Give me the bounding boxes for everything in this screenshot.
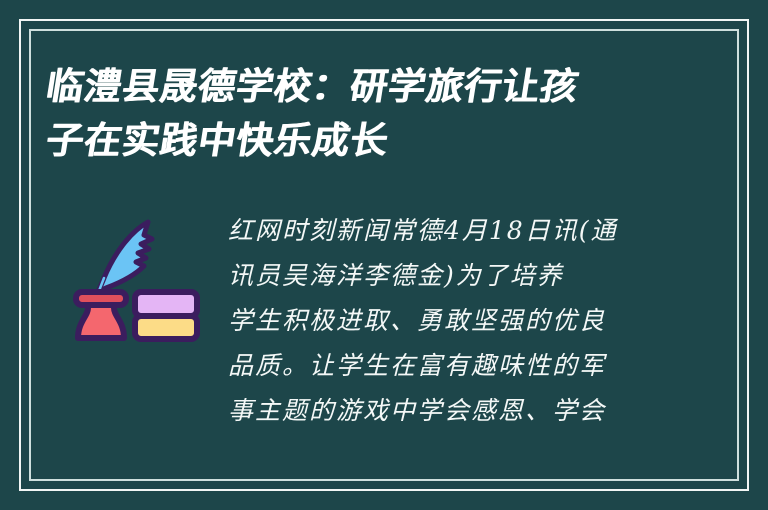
page-title: 临澧县晟德学校：研学旅行让孩 子在实践中快乐成长 (46, 60, 686, 168)
book-stack-icon (135, 292, 197, 339)
quill-feather-icon (96, 222, 152, 298)
body-line-5: 事主题的游戏中学会感恩、学会 (228, 388, 668, 433)
article-body: 红网时刻新闻常德4月18日讯(通 讯员吴海洋李德金)为了培养 学生积极进取、勇敢… (228, 208, 668, 433)
quill-inkwell-books-illustration (56, 216, 206, 346)
article-card: 临澧县晟德学校：研学旅行让孩 子在实践中快乐成长 红网时刻新闻常德4月18日讯(… (0, 0, 768, 510)
body-line-2: 讯员吴海洋李德金)为了培养 (228, 253, 668, 298)
body-line-4: 品质。让学生在富有趣味性的军 (228, 343, 668, 388)
title-line-2: 子在实践中快乐成长 (42, 114, 691, 168)
title-line-1: 临澧县晟德学校：研学旅行让孩 (42, 60, 691, 114)
body-line-1: 红网时刻新闻常德4月18日讯(通 (228, 208, 668, 253)
body-line-3: 学生积极进取、勇敢坚强的优良 (228, 298, 668, 343)
inkwell-icon (76, 292, 126, 338)
